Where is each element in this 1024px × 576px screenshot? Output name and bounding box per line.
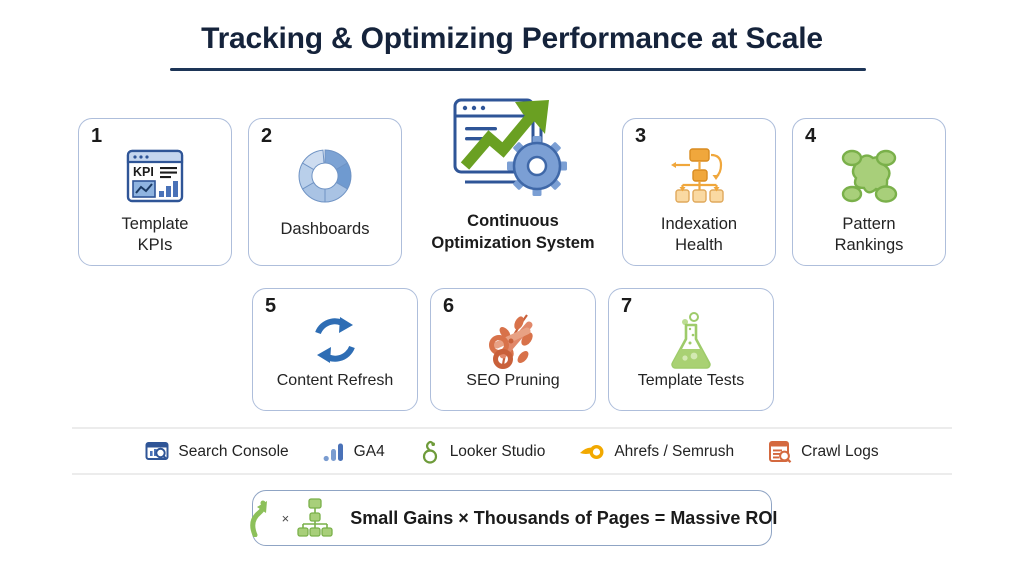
kpi-dashboard-window-icon: KPI	[79, 145, 231, 207]
card-label-line1: Template	[122, 215, 189, 233]
roi-banner-text: Small Gains × Thousands of Pages = Massi…	[350, 508, 777, 529]
card-label-line1: Dashboards	[281, 220, 370, 238]
tool-label: Looker Studio	[450, 443, 546, 461]
card-content-refresh[interactable]: 5 Content Refresh	[252, 288, 418, 411]
donut-chart-icon	[249, 145, 401, 207]
card-label-line2: KPIs	[138, 236, 173, 254]
card-template-tests[interactable]: 7 Template Tests	[608, 288, 774, 411]
tools-divider-bottom	[72, 473, 952, 475]
card-label: Pattern Rankings	[793, 214, 945, 255]
browser-growth-gear-icon	[418, 94, 608, 202]
card-label: Indexation Health	[623, 214, 775, 255]
tool-looker-studio[interactable]: Looker Studio	[419, 440, 546, 464]
cluster-network-icon	[793, 145, 945, 207]
hub-label-line2: Optimization System	[431, 234, 594, 252]
card-label-line1: Content Refresh	[277, 372, 394, 389]
tool-label: GA4	[354, 443, 385, 461]
card-label: SEO Pruning	[431, 371, 595, 391]
growth-arrow-icon	[247, 499, 275, 537]
card-label-line2: Rankings	[835, 236, 904, 254]
card-pattern-rankings[interactable]: 4 Pattern Rankings	[792, 118, 946, 266]
card-label: Content Refresh	[253, 371, 417, 391]
search-console-icon	[145, 440, 169, 464]
crawl-logs-icon	[768, 440, 792, 464]
tool-label: Search Console	[178, 443, 288, 461]
card-label-line1: Pattern	[842, 215, 895, 233]
card-label: Dashboards	[249, 219, 401, 240]
hub-continuous-optimization-system[interactable]: Continuous Optimization System	[418, 94, 608, 255]
multiply-symbol: ×	[282, 511, 290, 526]
card-label-line2: Health	[675, 236, 723, 254]
card-seo-pruning[interactable]: 6 SEO Pruning	[430, 288, 596, 411]
tool-search-console[interactable]: Search Console	[145, 440, 288, 464]
tool-crawl-logs[interactable]: Crawl Logs	[768, 440, 879, 464]
tool-ga4[interactable]: GA4	[323, 441, 385, 463]
comet-icon	[579, 442, 605, 462]
card-label: Template KPIs	[79, 214, 231, 255]
hub-label: Continuous Optimization System	[418, 210, 608, 255]
card-label-line1: Indexation	[661, 215, 737, 233]
tool-ahrefs-semrush[interactable]: Ahrefs / Semrush	[579, 442, 734, 462]
looker-studio-icon	[419, 440, 441, 464]
card-label-line1: SEO Pruning	[466, 372, 559, 389]
ga4-bars-icon	[323, 441, 345, 463]
card-label-line1: Template Tests	[638, 372, 744, 389]
page-title: Tracking & Optimizing Performance at Sca…	[0, 22, 1024, 56]
tools-row: Search Console GA4 Looker Studio	[72, 430, 952, 473]
pruning-shears-icon	[431, 311, 595, 369]
card-template-kpis[interactable]: 1 KPI Template KPIs	[78, 118, 232, 266]
sitemap-hierarchy-icon	[623, 145, 775, 207]
card-dashboards[interactable]: 2 Dashboards	[248, 118, 402, 266]
roi-banner[interactable]: × Small Gains × Thousands of Pages = Mas…	[252, 490, 772, 546]
refresh-arrows-icon	[253, 311, 417, 369]
card-label: Template Tests	[609, 371, 773, 391]
slide-canvas: Tracking & Optimizing Performance at Sca…	[0, 0, 1024, 576]
tool-label: Ahrefs / Semrush	[614, 443, 734, 461]
svg-text:KPI: KPI	[133, 165, 154, 179]
tool-label: Crawl Logs	[801, 443, 879, 461]
hub-label-line1: Continuous	[467, 212, 559, 230]
page-title-wrapper: Tracking & Optimizing Performance at Sca…	[0, 22, 1024, 56]
title-underline-rule	[170, 68, 866, 71]
card-indexation-health[interactable]: 3 Indexation He	[622, 118, 776, 266]
flask-beaker-icon	[609, 311, 773, 369]
sitemap-green-icon	[296, 498, 334, 538]
tools-divider-top	[72, 427, 952, 429]
